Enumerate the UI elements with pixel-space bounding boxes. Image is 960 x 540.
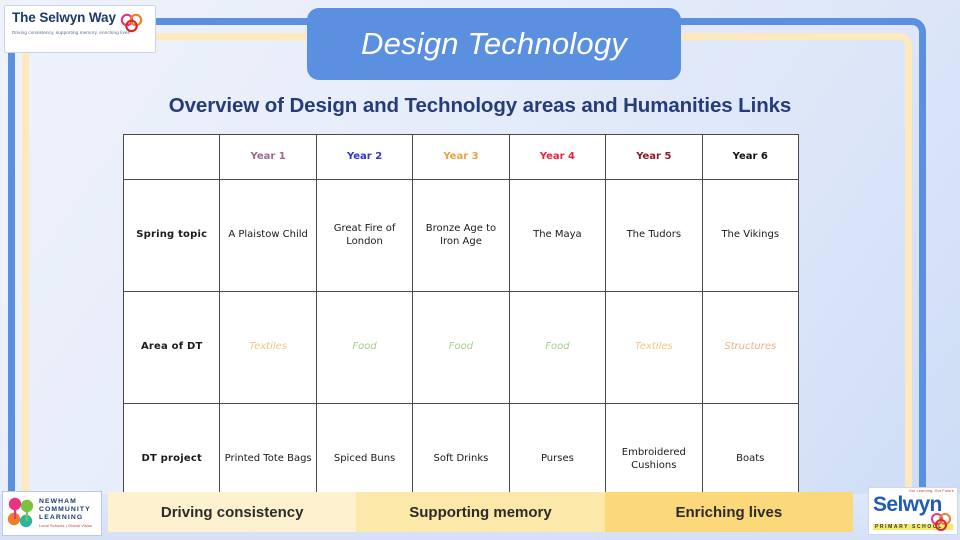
table-header-year-3: Year 3: [413, 135, 509, 180]
slide-canvas: The Selwyn Way Driving consistency, supp…: [0, 0, 960, 540]
overview-table: Year 1Year 2Year 3Year 4Year 5Year 6 Spr…: [123, 134, 799, 516]
newham-tagline: Local Schools | Global Vision: [39, 524, 92, 528]
table-row: Area of DTTextilesFoodFoodFoodTextilesSt…: [124, 292, 799, 404]
footer-band-enriching-lives: Enriching lives: [605, 492, 853, 532]
table-cell: Food: [509, 292, 605, 404]
table-header-year-5: Year 5: [606, 135, 702, 180]
interlocking-rings-icon: [928, 512, 954, 532]
newham-logo-text: NEWHAM COMMUNITY LEARNING Local Schools …: [39, 498, 92, 529]
table-header-row: Year 1Year 2Year 3Year 4Year 5Year 6: [124, 135, 799, 180]
newham-community-learning-logo: NEWHAM COMMUNITY LEARNING Local Schools …: [2, 491, 102, 536]
table-cell: The Vikings: [702, 180, 798, 292]
table-corner-cell: [124, 135, 220, 180]
newham-line-3: LEARNING: [39, 514, 92, 522]
table-header-year-1: Year 1: [220, 135, 316, 180]
newham-line-2: COMMUNITY: [39, 506, 92, 514]
page-title: Overview of Design and Technology areas …: [0, 94, 960, 118]
selwyn-primary-school-logo: Our Learning, Our Future Selwyn PRIMARY …: [868, 487, 958, 535]
table-row: Spring topicA Plaistow ChildGreat Fire o…: [124, 180, 799, 292]
table-cell: The Tudors: [606, 180, 702, 292]
table-cell: Great Fire of London: [316, 180, 412, 292]
table-cell: Bronze Age to Iron Age: [413, 180, 509, 292]
footer-band-driving-consistency: Driving consistency: [108, 492, 356, 532]
table-cell: Food: [413, 292, 509, 404]
row-label-spring-topic: Spring topic: [124, 180, 220, 292]
newham-dots-icon: [7, 497, 35, 531]
slide-title-banner: Design Technology: [307, 8, 681, 80]
newham-line-1: NEWHAM: [39, 498, 92, 506]
table-cell: Structures: [702, 292, 798, 404]
table-cell: The Maya: [509, 180, 605, 292]
table-cell: Textiles: [606, 292, 702, 404]
selwyn-way-logo: The Selwyn Way Driving consistency, supp…: [4, 5, 156, 53]
slide-title: Design Technology: [361, 26, 627, 62]
overview-table-wrap: Year 1Year 2Year 3Year 4Year 5Year 6 Spr…: [123, 134, 799, 516]
footer-band-supporting-memory: Supporting memory: [356, 492, 604, 532]
table-cell: Food: [316, 292, 412, 404]
table-header-year-4: Year 4: [509, 135, 605, 180]
table-cell: Textiles: [220, 292, 316, 404]
table-cell: A Plaistow Child: [220, 180, 316, 292]
table-header-year-2: Year 2: [316, 135, 412, 180]
row-label-area-of-dt: Area of DT: [124, 292, 220, 404]
footer-bands: Driving consistencySupporting memoryEnri…: [108, 492, 853, 532]
table-header-year-6: Year 6: [702, 135, 798, 180]
interlocking-rings-icon: [117, 13, 147, 33]
